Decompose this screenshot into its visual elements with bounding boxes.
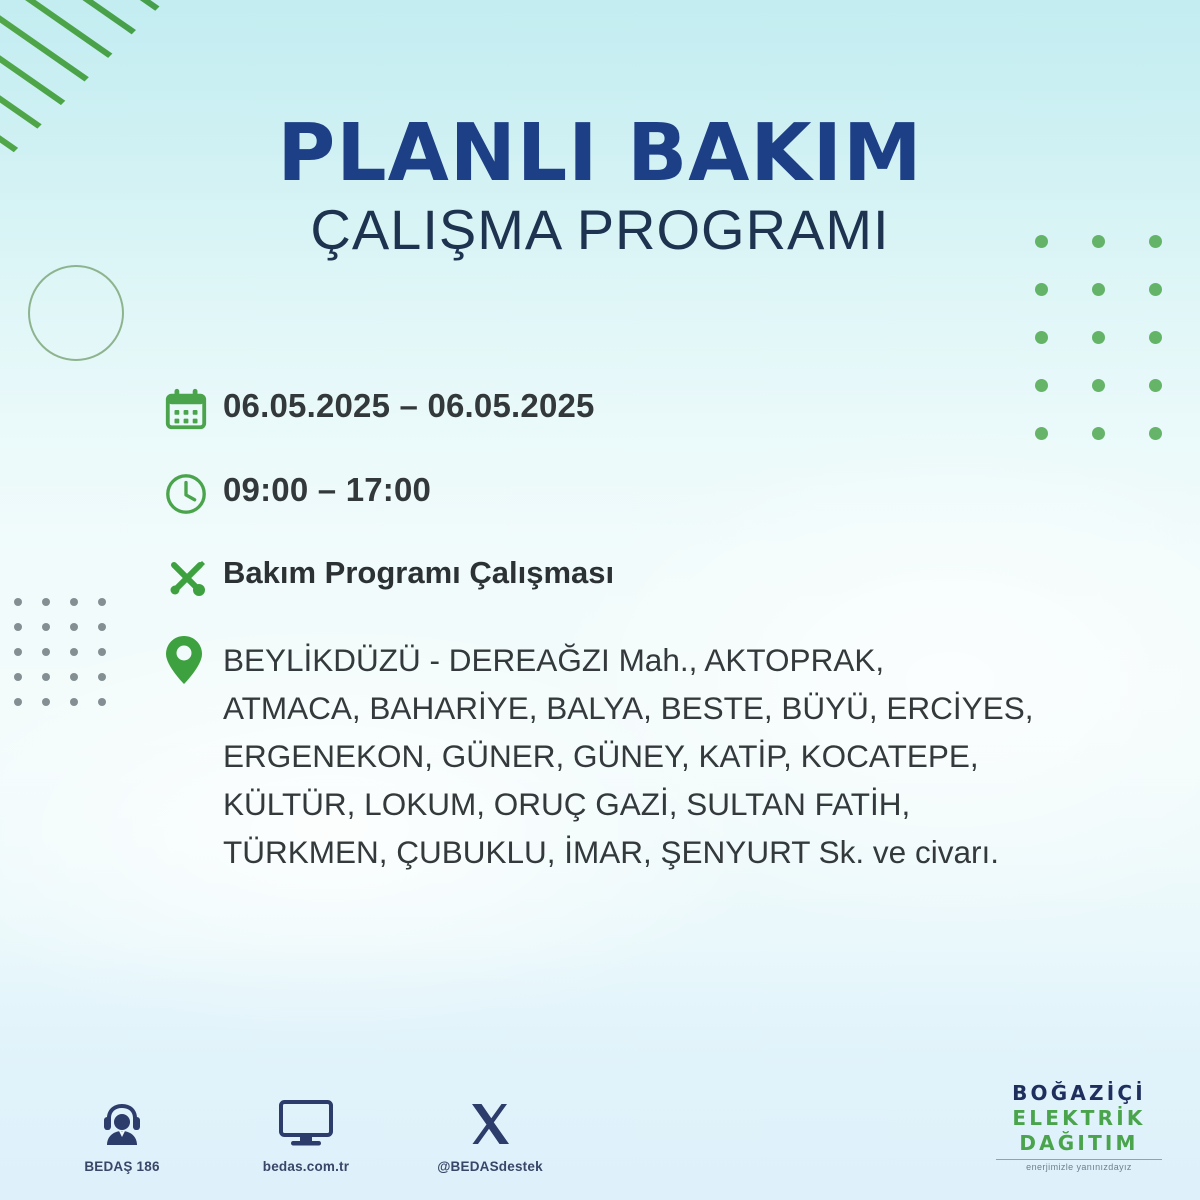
tools-icon xyxy=(163,550,223,606)
call-center-agent-icon xyxy=(58,1092,186,1150)
planned-maintenance-poster: PLANLI BAKIM ÇALIŞMA PROGRAMI xyxy=(0,0,1200,1200)
time-range-text: 09:00 – 17:00 xyxy=(223,466,431,512)
contact-x-label: @BEDASdestek xyxy=(426,1159,554,1174)
footer-contacts: BEDAŞ 186 bedas.com.tr @BEDASdestek xyxy=(58,1092,554,1174)
calendar-icon xyxy=(163,382,223,438)
location-pin-icon xyxy=(163,634,223,686)
contact-phone-label: BEDAŞ 186 xyxy=(58,1159,186,1174)
logo-tagline: enerjimizle yanınızdayız xyxy=(986,1162,1172,1172)
logo-line-bogazici: BOĞAZİÇİ xyxy=(986,1081,1172,1106)
page-subtitle: ÇALIŞMA PROGRAMI xyxy=(0,200,1200,260)
page-title: PLANLI BAKIM xyxy=(0,112,1200,194)
monitor-icon xyxy=(242,1092,370,1150)
bedas-logo: BOĞAZİÇİ ELEKTRİK DAĞITIM enerjimizle ya… xyxy=(986,1081,1172,1172)
work-type-text: Bakım Programı Çalışması xyxy=(223,550,614,594)
x-social-icon xyxy=(426,1092,554,1150)
clock-icon xyxy=(163,466,223,522)
logo-line-elektrik: ELEKTRİK xyxy=(986,1106,1172,1131)
contact-website[interactable]: bedas.com.tr xyxy=(242,1092,370,1174)
circle-outline-decoration xyxy=(28,265,124,361)
logo-line-dagitim: DAĞITIM xyxy=(986,1131,1172,1156)
contact-website-label: bedas.com.tr xyxy=(242,1159,370,1174)
affected-locations-text: BEYLİKDÜZÜ - DEREAĞZI Mah., AKTOPRAK, AT… xyxy=(223,634,1033,876)
logo-divider xyxy=(996,1159,1162,1160)
poster-heading: PLANLI BAKIM ÇALIŞMA PROGRAMI xyxy=(0,112,1200,260)
detail-row-date: 06.05.2025 – 06.05.2025 xyxy=(163,382,1173,438)
detail-row-location: BEYLİKDÜZÜ - DEREAĞZI Mah., AKTOPRAK, AT… xyxy=(163,634,1173,876)
detail-row-time: 09:00 – 17:00 xyxy=(163,466,1173,522)
dot-grid-decoration-left xyxy=(14,598,126,723)
detail-row-work-type: Bakım Programı Çalışması xyxy=(163,550,1173,606)
contact-x[interactable]: @BEDASdestek xyxy=(426,1092,554,1174)
maintenance-details: 06.05.2025 – 06.05.2025 09:00 – 17:00 xyxy=(163,382,1173,904)
date-range-text: 06.05.2025 – 06.05.2025 xyxy=(223,382,595,428)
contact-phone[interactable]: BEDAŞ 186 xyxy=(58,1092,186,1174)
